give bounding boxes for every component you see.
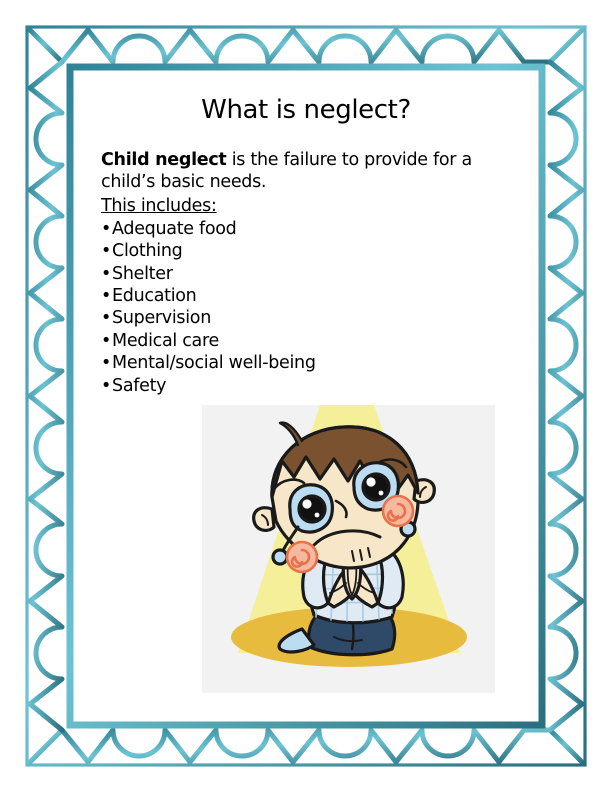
list-item: Adequate food [101, 218, 523, 240]
body-text: Child neglect is the failure to provide … [89, 149, 523, 397]
needs-list: Adequate food Clothing Shelter Education… [101, 218, 523, 397]
list-item: Safety [101, 375, 523, 397]
includes-heading: This includes: [101, 195, 217, 217]
left-tear-drop [273, 550, 287, 564]
crying-child-graphic [202, 405, 495, 693]
crying-child-illustration [202, 405, 495, 693]
list-item: Education [101, 285, 523, 307]
list-item: Shelter [101, 263, 523, 285]
page-title: What is neglect? [89, 96, 523, 125]
poster-page: What is neglect? Child neglect is the fa… [0, 0, 612, 792]
includes-heading-wrap: This includes: [101, 193, 523, 217]
poster-content: What is neglect? Child neglect is the fa… [75, 72, 537, 720]
left-ear [254, 508, 274, 531]
definition-term: Child neglect [101, 150, 226, 170]
list-item: Clothing [101, 240, 523, 262]
list-item: Mental/social well-being [101, 352, 523, 374]
definition-paragraph: Child neglect is the failure to provide … [101, 149, 523, 194]
list-item: Medical care [101, 330, 523, 352]
list-item: Supervision [101, 307, 523, 329]
